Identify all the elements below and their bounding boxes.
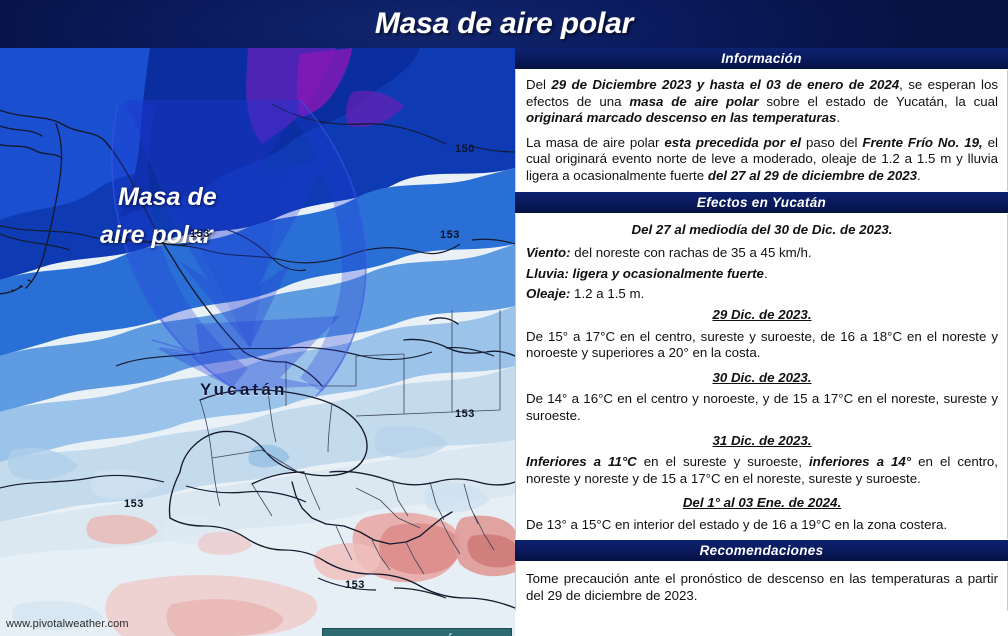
date-heading-31dic: 31 Dic. de 2023. <box>526 433 998 450</box>
emphasis-below-14: inferiores a 14° <box>809 454 911 469</box>
informacion-paragraph-2: La masa de aire polar esta precedida por… <box>526 135 998 185</box>
text-run: en el sureste y suroeste, <box>637 454 809 469</box>
emphasis-date-range: 29 de Diciembre 2023 y hasta el 03 de en… <box>551 77 899 92</box>
info-panel: Información Del 29 de Diciembre 2023 y h… <box>515 48 1008 636</box>
emphasis-cold-front: Frente Frío No. 19, <box>862 135 982 150</box>
label-lluvia: Lluvia: ligera y ocasionalmente fuerte <box>526 266 764 281</box>
date-heading-text: Del 1° al 03 Ene. de 2024. <box>683 495 841 510</box>
forecast-01ene: De 13° a 15°C en interior del estado y d… <box>526 517 998 534</box>
recomendaciones-text: Tome precaución ante el pronóstico de de… <box>526 571 998 604</box>
section-header-recomendaciones: Recomendaciones <box>515 539 1008 562</box>
label-viento: Viento: <box>526 245 571 260</box>
text-run: . <box>836 110 840 125</box>
value-lluvia: . <box>764 266 768 281</box>
date-heading-text: 29 Dic. de 2023. <box>712 307 811 322</box>
text-run: La masa de aire polar <box>526 135 664 150</box>
weather-map[interactable]: Masa de aire polar Yucatán 150 153 153 1… <box>0 48 515 636</box>
emphasis-temp-drop: originará marcado descenso en las temper… <box>526 110 836 125</box>
label-oleaje: Oleaje: <box>526 286 570 301</box>
section-body-efectos: Del 27 al mediodía del 30 de Dic. de 202… <box>515 214 1008 540</box>
infographic-root: Masa de aire polar <box>0 0 1008 636</box>
section-body-recomendaciones: Tome precaución ante el pronóstico de de… <box>515 562 1008 610</box>
emphasis-preceded: esta precedida por el <box>664 135 801 150</box>
date-heading-text: 30 Dic. de 2023. <box>712 370 811 385</box>
text-run: sobre el estado de Yucatán, la cual <box>759 94 998 109</box>
forecast-29dic: De 15° a 17°C en el centro, sureste y su… <box>526 329 998 362</box>
section-body-informacion: Del 29 de Diciembre 2023 y hasta el 03 d… <box>515 70 1008 191</box>
value-oleaje: 1.2 a 1.5 m. <box>570 286 644 301</box>
efectos-period: Del 27 al mediodía del 30 de Dic. de 202… <box>526 222 998 239</box>
text-run: Del <box>526 77 551 92</box>
informacion-paragraph-1: Del 29 de Diciembre 2023 y hasta el 03 d… <box>526 77 998 127</box>
legend-box: SIMBOLOGÍA Masa de aire polar <box>322 628 512 636</box>
section-header-informacion: Información <box>515 48 1008 70</box>
value-viento: del noreste con rachas de 35 a 45 km/h. <box>571 245 812 260</box>
date-heading-01ene: Del 1° al 03 Ene. de 2024. <box>526 495 998 512</box>
efectos-lluvia: Lluvia: ligera y ocasionalmente fuerte. <box>526 266 998 283</box>
date-heading-29dic: 29 Dic. de 2023. <box>526 307 998 324</box>
forecast-30dic: De 14° a 16°C en el centro y noroeste, y… <box>526 391 998 424</box>
emphasis-air-mass: masa de aire polar <box>629 94 758 109</box>
emphasis-below-11: Inferiores a 11°C <box>526 454 637 469</box>
date-heading-text: 31 Dic. de 2023. <box>712 433 811 448</box>
forecast-31dic: Inferiores a 11°C en el sureste y suroes… <box>526 454 998 487</box>
section-header-efectos: Efectos en Yucatán <box>515 191 1008 214</box>
efectos-oleaje: Oleaje: 1.2 a 1.5 m. <box>526 286 998 303</box>
legend-title: SIMBOLOGÍA <box>323 629 511 636</box>
page-title: Masa de aire polar <box>0 0 1008 48</box>
emphasis-date-range-2: del 27 al 29 de diciembre de 2023 <box>708 168 917 183</box>
efectos-viento: Viento: del noreste con rachas de 35 a 4… <box>526 245 998 262</box>
map-graphic <box>0 48 515 636</box>
text-run: . <box>917 168 921 183</box>
date-heading-30dic: 30 Dic. de 2023. <box>526 370 998 387</box>
text-run: paso del <box>801 135 862 150</box>
title-bar: Masa de aire polar <box>0 0 1008 48</box>
